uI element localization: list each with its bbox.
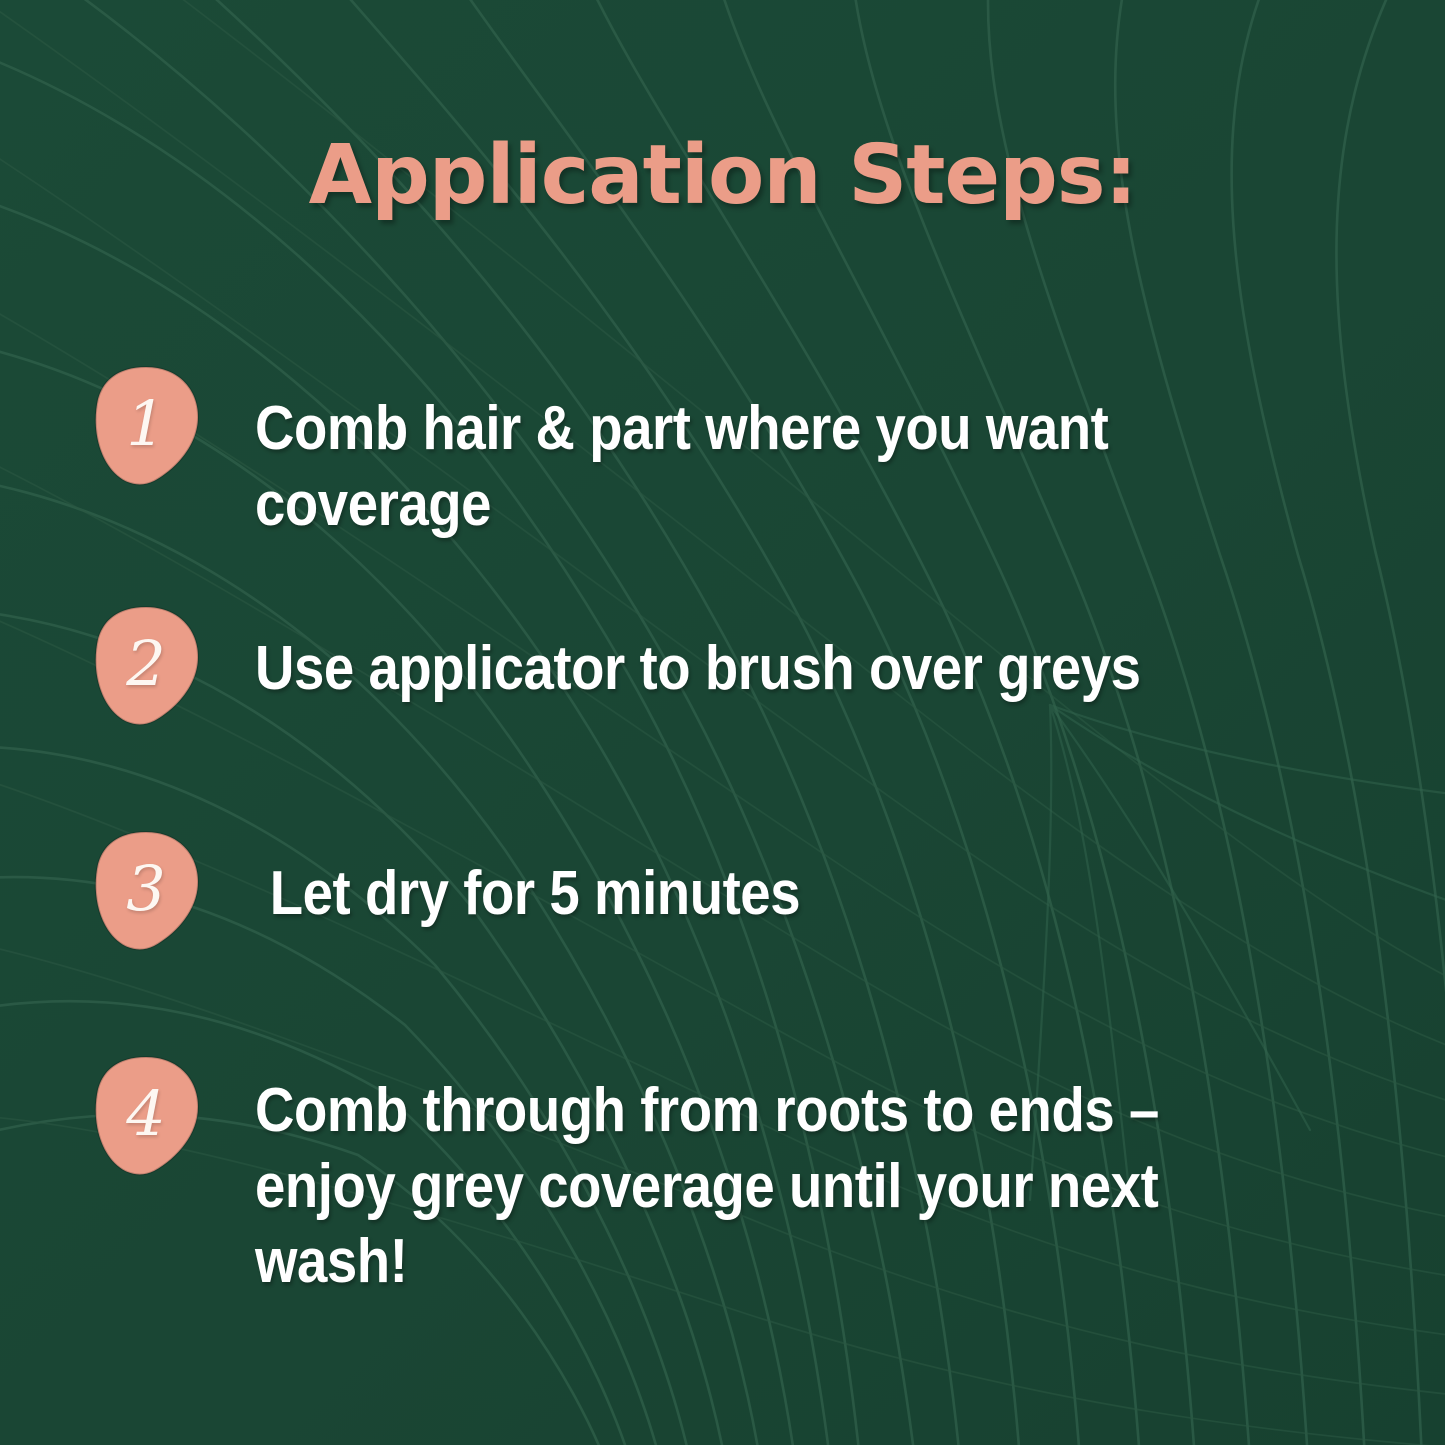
step-number: 4: [92, 1055, 200, 1177]
step-description: Comb hair & part where you want coverage: [255, 365, 1210, 542]
step-item: 4 Comb through from roots to ends – enjo…: [0, 1055, 1445, 1300]
step-badge-1: 1: [92, 365, 200, 487]
application-steps-poster: Application Steps: 1 Comb hair & part wh…: [0, 0, 1445, 1445]
step-badge-4: 4: [92, 1055, 200, 1177]
step-item: 2 Use applicator to brush over greys: [0, 605, 1445, 727]
step-number: 1: [92, 365, 200, 487]
step-description: Use applicator to brush over greys: [255, 605, 1210, 707]
step-description: Let dry for 5 minutes: [255, 830, 1210, 932]
step-number: 2: [92, 605, 200, 727]
step-number: 3: [92, 830, 200, 952]
step-item: 3 Let dry for 5 minutes: [0, 830, 1445, 952]
step-item: 1 Comb hair & part where you want covera…: [0, 365, 1445, 542]
step-badge-3: 3: [92, 830, 200, 952]
step-description: Comb through from roots to ends – enjoy …: [255, 1055, 1210, 1300]
step-badge-2: 2: [92, 605, 200, 727]
steps-list: 1 Comb hair & part where you want covera…: [0, 0, 1445, 1445]
